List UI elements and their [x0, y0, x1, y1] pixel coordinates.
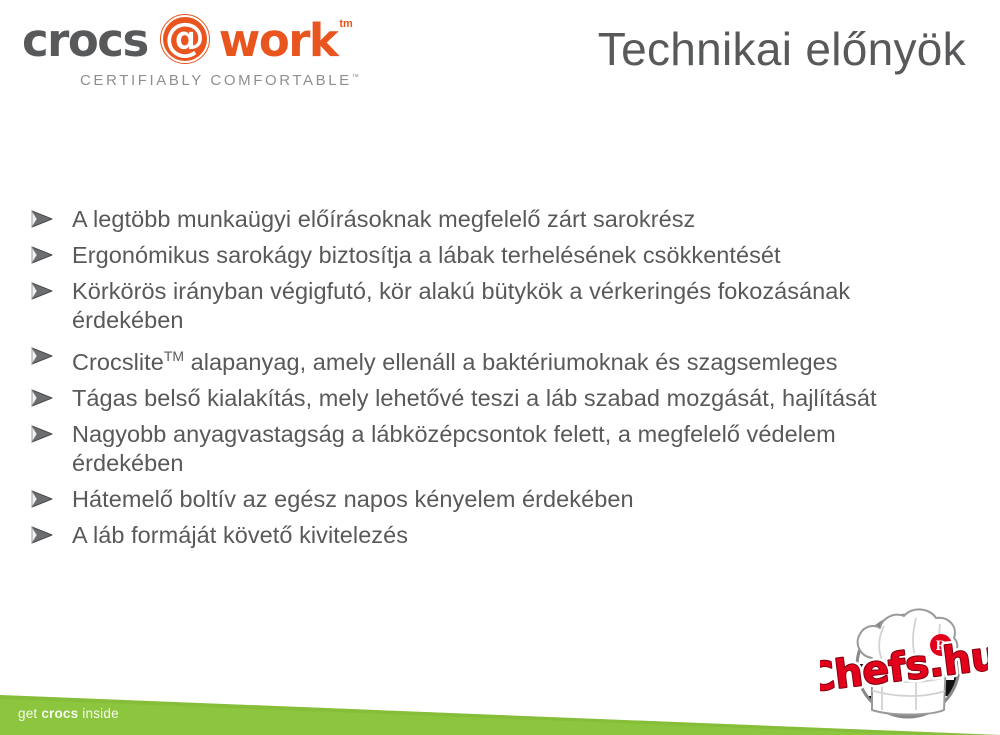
arrowhead-bullet-icon: [30, 420, 72, 444]
logo-tagline: CERTIFIABLY COMFORTABLE™: [80, 72, 359, 89]
slide-canvas: crocs @ work tm CERTIFIABLY COMFORTABLE™…: [0, 0, 1000, 735]
list-item: CrocsliteTM alapanyag, amely ellenáll a …: [30, 342, 930, 377]
list-item: A legtöbb munkaügyi előírásoknak megfele…: [30, 205, 930, 234]
arrowhead-bullet-icon: [30, 277, 72, 301]
list-item-text: CrocsliteTM alapanyag, amely ellenáll a …: [72, 342, 838, 377]
list-item: Hátemelő boltív az egész napos kényelem …: [30, 485, 930, 514]
list-item: Tágas belső kialakítás, mely lehetővé te…: [30, 384, 930, 413]
crocs-at-work-logo: crocs @ work tm CERTIFIABLY COMFORTABLE™: [22, 14, 402, 96]
logo-trademark: tm: [339, 18, 352, 30]
at-symbol-icon: @: [160, 14, 212, 66]
list-item-text: A legtöbb munkaügyi előírásoknak megfele…: [72, 205, 695, 234]
logo-word-crocs: crocs: [22, 18, 148, 63]
footer-tagline-inside: inside: [78, 706, 118, 721]
list-item: Nagyobb anyagvastagság a lábközépcsontok…: [30, 420, 930, 478]
logo-wordmark: crocs @ work tm: [22, 14, 353, 66]
footer-tagline-crocs: crocs: [41, 706, 78, 721]
footer-tagline-get: get: [18, 706, 41, 721]
list-item-text-rest: alapanyag, amely ellenáll a baktériumokn…: [184, 349, 837, 375]
arrowhead-bullet-icon: [30, 485, 72, 509]
list-item-text: Nagyobb anyagvastagság a lábközépcsontok…: [72, 420, 930, 478]
arrowhead-bullet-icon: [30, 205, 72, 229]
list-item: Ergonómikus sarokágy biztosítja a lábak …: [30, 241, 930, 270]
crocslite-trademark: TM: [164, 348, 184, 364]
logo-tagline-trademark: ™: [352, 74, 359, 81]
footer-green-band: get crocs inside: [0, 673, 1000, 735]
arrowhead-bullet-icon: [30, 241, 72, 265]
logo-tagline-text: CERTIFIABLY COMFORTABLE: [80, 72, 352, 89]
list-item-text: Tágas belső kialakítás, mely lehetővé te…: [72, 384, 877, 413]
arrowhead-bullet-icon: [30, 384, 72, 408]
list-item-text: Körkörös irányban végigfutó, kör alakú b…: [72, 277, 930, 335]
page-title: Technikai előnyök: [598, 22, 966, 76]
arrowhead-bullet-icon: [30, 342, 72, 366]
bullet-list: A legtöbb munkaügyi előírásoknak megfele…: [30, 205, 930, 557]
logo-word-work: work: [219, 18, 338, 63]
list-item-text: A láb formáját követő kivitelezés: [72, 521, 408, 550]
list-item-text: Ergonómikus sarokágy biztosítja a lábak …: [72, 241, 781, 270]
list-item: Körkörös irányban végigfutó, kör alakú b…: [30, 277, 930, 335]
at-glyph: @: [160, 14, 210, 64]
footer-tagline: get crocs inside: [18, 706, 119, 721]
list-item: A láb formáját követő kivitelezés: [30, 521, 930, 550]
list-item-text: Hátemelő boltív az egész napos kényelem …: [72, 485, 634, 514]
crocslite-name: Crocslite: [72, 349, 164, 375]
arrowhead-bullet-icon: [30, 521, 72, 545]
